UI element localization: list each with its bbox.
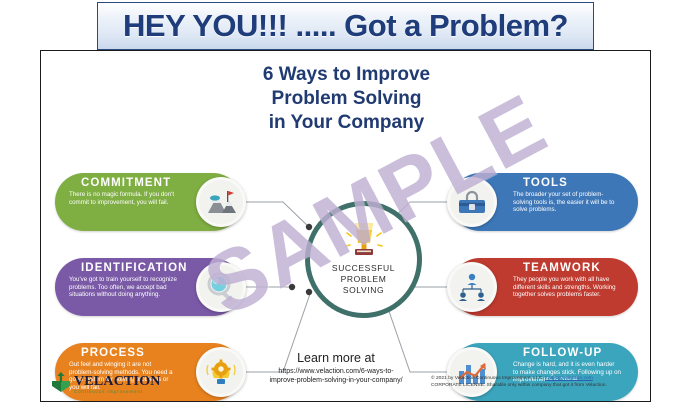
magnifying-glass-icon: [196, 262, 246, 312]
toolbox-icon: [447, 177, 497, 227]
trophy-icon: [344, 220, 384, 266]
card-identification-body: You've got to train yourself to recogniz…: [69, 276, 177, 299]
page-title: 6 Ways to Improve Problem Solving in You…: [41, 63, 651, 135]
velaction-logo: VELACTION Continuous Improvement: [49, 369, 184, 399]
header-banner-text: HEY YOU!!! ..... Got a Problem?: [123, 8, 568, 44]
copyright-line2: CORPORATE LICENSE: Sharable only within …: [431, 382, 646, 389]
center-hub-label: SUCCESSFUL PROBLEM SOLVING: [332, 263, 395, 296]
card-teamwork[interactable]: TEAMWORK They people you work with all h…: [451, 258, 638, 316]
copyright-line1: © 2021 by Velaction Continuous Improveme…: [431, 375, 646, 382]
card-process-title: PROCESS: [81, 347, 145, 359]
center-hub-line2: PROBLEM: [332, 274, 395, 285]
card-teamwork-body: They people you work with all have diffe…: [513, 276, 621, 299]
card-commitment-title: COMMITMENT: [81, 177, 171, 189]
velaction-name: VELACTION: [74, 374, 161, 390]
card-commitment-body: There is no magic formula. If you don't …: [69, 191, 177, 206]
card-commitment[interactable]: COMMITMENT There is no magic formula. If…: [55, 173, 242, 231]
infographic-page: HEY YOU!!! ..... Got a Problem? 6 Ways t…: [0, 0, 691, 403]
page-title-line1: 6 Ways to Improve: [41, 63, 651, 87]
infographic-frame: 6 Ways to Improve Problem Solving in You…: [40, 50, 651, 402]
card-identification-title: IDENTIFICATION: [81, 262, 188, 274]
team-hierarchy-icon: [447, 262, 497, 312]
center-hub: SUCCESSFUL PROBLEM SOLVING: [305, 201, 422, 318]
card-teamwork-title: TEAMWORK: [523, 262, 601, 274]
card-identification[interactable]: IDENTIFICATION You've got to train yours…: [55, 258, 242, 316]
card-tools-title: TOOLS: [523, 177, 568, 189]
velaction-wordmark: VELACTION Continuous Improvement: [74, 374, 161, 394]
page-title-line3: in Your Company: [41, 111, 651, 135]
copyright-block: © 2021 by Velaction Continuous Improveme…: [431, 375, 646, 389]
training-site-link[interactable]: training.Velaction.com: [545, 376, 593, 381]
learn-more-label: Learn more at: [191, 351, 481, 365]
card-tools-body: The broader your set of problem-solving …: [513, 191, 621, 214]
velaction-logo-mark: [49, 372, 73, 396]
center-hub-line3: SOLVING: [332, 285, 395, 296]
mountain-flag-icon: [196, 177, 246, 227]
header-banner: HEY YOU!!! ..... Got a Problem?: [97, 2, 594, 50]
card-tools[interactable]: TOOLS The broader your set of problem-so…: [451, 173, 638, 231]
copyright-text: © 2021 by Velaction Continuous Improveme…: [431, 376, 545, 381]
card-followup-title: FOLLOW-UP: [523, 347, 602, 359]
page-title-line2: Problem Solving: [41, 87, 651, 111]
